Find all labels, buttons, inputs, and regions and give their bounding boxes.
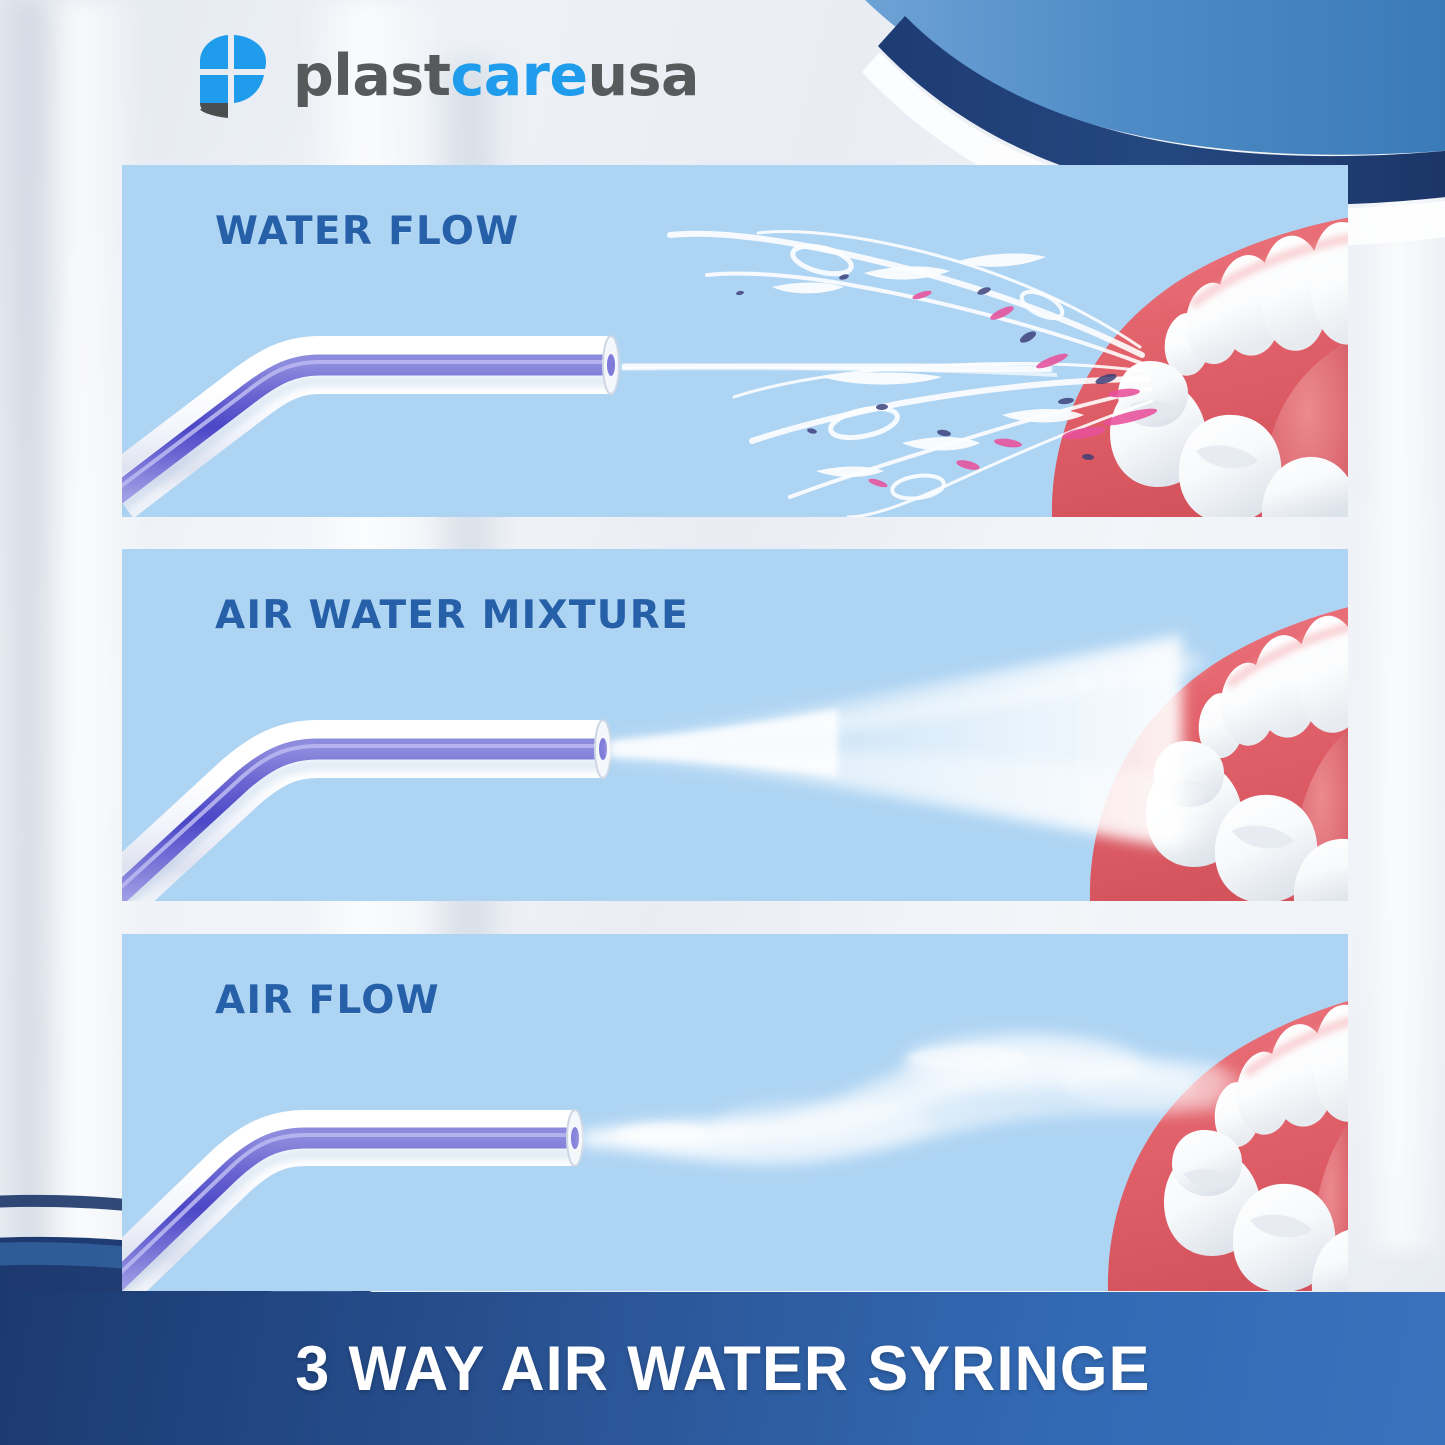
plastcare-cross-icon: [197, 33, 269, 119]
panel-water-flow: WATER FLOW: [122, 165, 1348, 517]
teeth-arch-illustration: [1090, 587, 1348, 901]
bottom-banner: 3 WAY AIR WATER SYRINGE: [0, 1292, 1445, 1445]
teeth-arch-illustration: [1052, 205, 1348, 517]
air-stream-icon: [582, 1032, 1242, 1164]
panel-label-air-water-mixture: AIR WATER MIXTURE: [215, 593, 689, 638]
syringe-tip-illustration: [122, 720, 611, 901]
water-splash-icon: [622, 232, 1158, 518]
brand-word-care: care: [450, 43, 587, 109]
panel-label-air-flow: AIR FLOW: [215, 978, 440, 1023]
banner-title: 3 WAY AIR WATER SYRINGE: [295, 1333, 1150, 1405]
panel-air-water-mixture: AIR WATER MIXTURE: [122, 549, 1348, 901]
panel-air-flow: AIR FLOW: [122, 934, 1348, 1291]
infographic-page: plastcareusa: [0, 0, 1445, 1445]
syringe-tip-illustration: [122, 336, 619, 511]
brand-word-plast: plast: [293, 43, 450, 109]
syringe-tip-illustration: [122, 1110, 583, 1291]
mist-spray-icon: [610, 635, 1202, 849]
teeth-arch-illustration: [1108, 976, 1348, 1291]
brand-word-usa: usa: [588, 43, 699, 109]
brand-logo: plastcareusa: [197, 33, 699, 119]
debris-particles: [736, 273, 1159, 489]
brand-wordmark: plastcareusa: [293, 48, 699, 105]
panel-label-water-flow: WATER FLOW: [215, 209, 520, 254]
